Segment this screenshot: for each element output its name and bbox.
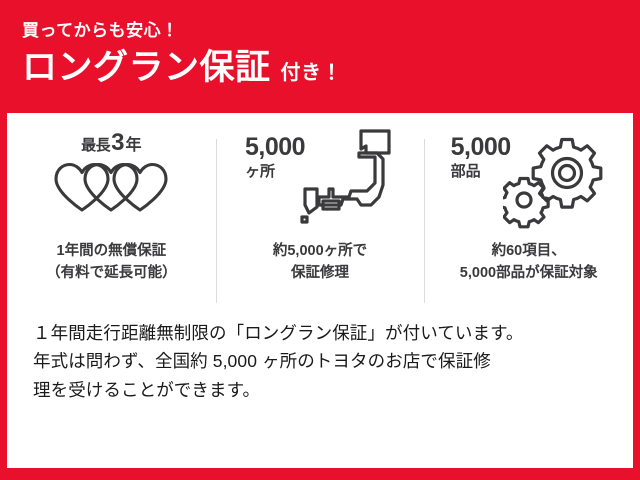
banner-header: 買ってからも安心！ ロングラン保証 付き！ (0, 0, 640, 85)
caption-line-2: 5,000部品が保証対象 (460, 263, 598, 285)
header-title-main: ロングラン保証 (22, 50, 271, 85)
caption-line-1: 1年間の無償保証 (46, 241, 177, 263)
content-panel: 最長 3 年 1年間の無償 (7, 113, 633, 468)
gears-label: 5,000 部品 (451, 131, 511, 180)
caption-line-1: 約60項目、 (460, 241, 598, 263)
header-kicker: 買ってからも安心！ (22, 22, 640, 41)
hearts-label: 最長 3 年 (81, 131, 141, 155)
feature-caption-service-locations: 約5,000ヶ所で 保証修理 (273, 241, 367, 285)
hearts-label-number: 3 (111, 131, 124, 155)
feature-warranty-period: 最長 3 年 1年間の無償 (7, 121, 216, 313)
feature-visual-map: 5,000 ヶ所 (222, 121, 419, 233)
hearts-label-unit: 年 (126, 131, 142, 155)
gears-label-number: 5,000 (451, 135, 511, 160)
description-line-2: 年式は問わず、全国約 5,000 ヶ所のトヨタのお店で保証修 (33, 347, 607, 375)
longrun-warranty-banner: 買ってからも安心！ ロングラン保証 付き！ 最長 3 年 (0, 0, 640, 480)
caption-line-2: 保証修理 (273, 263, 367, 285)
feature-covered-parts: 5,000 部品 (424, 121, 633, 313)
feature-columns: 最長 3 年 1年間の無償 (7, 113, 633, 313)
header-title-sub: 付き！ (281, 63, 343, 83)
gears-label-unit: 部品 (451, 163, 481, 180)
hearts-label-prefix: 最長 (81, 134, 110, 155)
description-text: １年間走行距離無制限の「ロングラン保証」が付いています。 年式は問わず、全国約 … (7, 313, 633, 404)
description-line-1: １年間走行距離無制限の「ロングラン保証」が付いています。 (33, 319, 607, 347)
gears-icon (503, 137, 607, 229)
header-title: ロングラン保証 付き！ (22, 50, 640, 85)
map-label-number: 5,000 (245, 135, 305, 160)
map-label: 5,000 ヶ所 (245, 131, 305, 180)
feature-service-locations: 5,000 ヶ所 (216, 121, 425, 313)
description-line-3: 理を受けることができます。 (33, 376, 607, 404)
feature-visual-gears: 5,000 部品 (430, 121, 627, 233)
map-label-unit: ヶ所 (245, 163, 275, 180)
caption-line-2: （有料で延長可能） (46, 263, 177, 285)
three-hearts-icon (52, 160, 170, 216)
caption-line-1: 約5,000ヶ所で (273, 241, 367, 263)
feature-caption-warranty-period: 1年間の無償保証 （有料で延長可能） (46, 241, 177, 285)
feature-visual-hearts: 最長 3 年 (13, 121, 210, 233)
feature-caption-covered-parts: 約60項目、 5,000部品が保証対象 (460, 241, 598, 285)
japan-map-icon (299, 127, 395, 227)
